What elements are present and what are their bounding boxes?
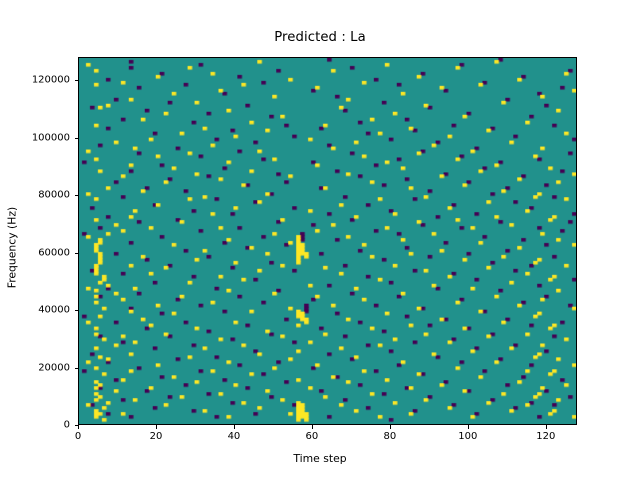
x-tick-label: 80 (355, 431, 425, 442)
x-tick-label: 60 (277, 431, 347, 442)
x-tick-mark (312, 425, 313, 429)
x-tick-mark (546, 425, 547, 429)
y-tick-mark (75, 138, 79, 139)
x-axis-label: Time step (0, 452, 640, 465)
x-tick-label: 40 (199, 431, 269, 442)
spectrogram-canvas[interactable] (79, 58, 576, 424)
y-tick-mark (75, 310, 79, 311)
heatmap-axes[interactable] (78, 57, 577, 425)
y-tick-label: 40000 (4, 305, 70, 316)
page-title: Predicted : La (0, 30, 640, 45)
y-tick-label: 60000 (4, 247, 70, 258)
y-tick-mark (75, 368, 79, 369)
x-tick-label: 0 (43, 431, 113, 442)
x-tick-mark (156, 425, 157, 429)
y-tick-label: 120000 (4, 75, 70, 86)
y-tick-label: 20000 (4, 362, 70, 373)
x-tick-label: 20 (121, 431, 191, 442)
y-tick-mark (75, 195, 79, 196)
x-tick-label: 120 (511, 431, 581, 442)
y-tick-label: 100000 (4, 132, 70, 143)
x-tick-mark (78, 425, 79, 429)
matplotlib-figure: Predicted : La 0200004000060000800001000… (0, 0, 640, 480)
x-tick-mark (468, 425, 469, 429)
y-tick-label: 80000 (4, 190, 70, 201)
y-axis-label-holder: Frequency (Hz) (0, 0, 72, 480)
y-tick-label: 0 (4, 420, 70, 431)
x-tick-mark (390, 425, 391, 429)
x-tick-mark (234, 425, 235, 429)
x-tick-label: 100 (433, 431, 503, 442)
y-tick-mark (75, 80, 79, 81)
y-tick-mark (75, 253, 79, 254)
